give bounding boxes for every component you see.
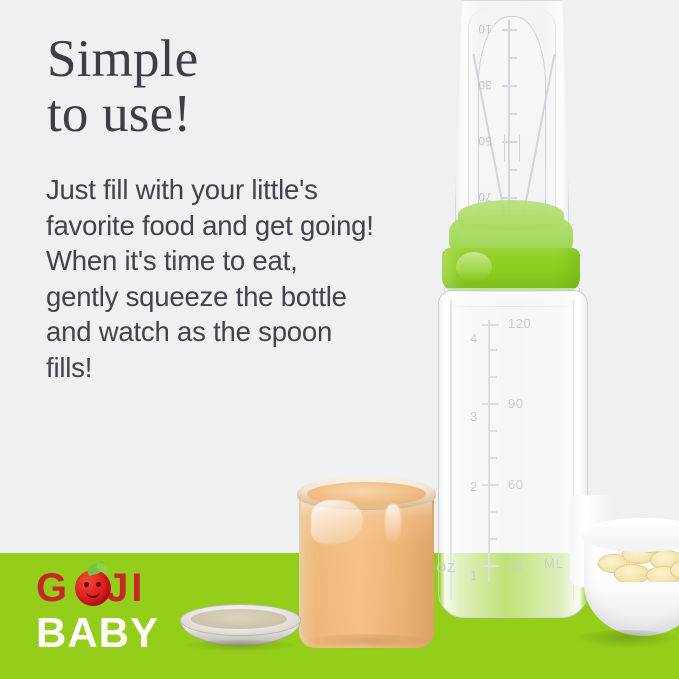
bottle-tick (488, 349, 497, 351)
bottle-ml-number: 120 (508, 316, 531, 331)
bottle-tick (488, 457, 497, 459)
bottle-ml-number: 90 (508, 396, 523, 411)
bowl-shadow (576, 630, 679, 648)
product-lifestyle-image: Simple to use! Just fill with your littl… (0, 0, 679, 679)
bottle-oz-number: 2 (470, 479, 478, 494)
logo-wordmark-baby: BABY (36, 612, 159, 654)
bottle-ml-number: 30 (508, 559, 523, 574)
logo-letters-ji: JI (106, 566, 145, 610)
bottle-tick (482, 484, 499, 486)
bottle-ml-unit: ML (544, 556, 564, 571)
brand-logo: GJI BABY (36, 568, 216, 658)
spoon-silhouette-icon (478, 16, 546, 216)
cap-tick (502, 197, 517, 199)
baby-food-jar (299, 470, 434, 648)
cap-tick (502, 141, 517, 143)
bottle-tick (482, 324, 499, 326)
bottle-tick (488, 511, 497, 513)
cap-tick (508, 57, 517, 59)
collar-highlight (456, 252, 492, 282)
bottle-tick (488, 430, 497, 432)
cap-tick (502, 29, 517, 31)
banana-slice (614, 564, 650, 582)
cap-tick (508, 113, 517, 115)
bottle-oz-number: 4 (470, 331, 478, 346)
cap-scale-number: 50 (478, 134, 492, 146)
goji-berry-smiley-icon (75, 570, 111, 606)
spoon-neck (504, 134, 520, 162)
bottle-tick (482, 565, 499, 567)
bottle-ml-number: 60 (508, 477, 523, 492)
bottle-tick (488, 538, 497, 540)
cap-tick (508, 169, 517, 171)
bottle-oz-number: 1 (470, 568, 478, 583)
bottle-scale-line (488, 320, 490, 582)
berry-smile (86, 587, 100, 598)
bottle-oz-number: 3 (470, 409, 478, 424)
cap-tick (502, 85, 517, 87)
cap-scale-number: 10 (478, 22, 492, 34)
page-title: Simple to use! (47, 32, 377, 142)
body-paragraph: Just fill with your little's favorite fo… (46, 172, 376, 386)
cap-scale-number: 30 (478, 78, 492, 90)
logo-letter-g: G (36, 566, 70, 610)
green-silicone-collar (442, 200, 580, 294)
bottle-tick (488, 376, 497, 378)
cap-scale-line (508, 20, 510, 212)
bottle-tick (482, 403, 499, 405)
bottle-oz-unit: OZ (436, 560, 456, 575)
jar-highlight-secondary (385, 504, 401, 542)
jar-shadow (303, 634, 430, 650)
